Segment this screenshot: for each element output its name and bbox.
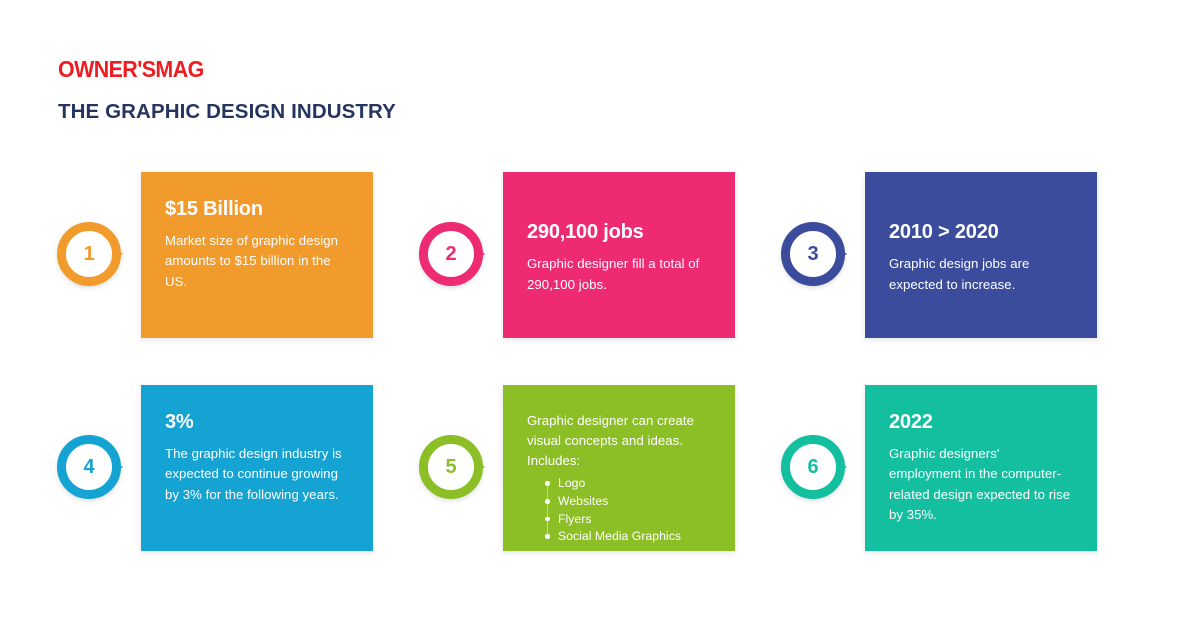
stat-cell-5: 5Graphic designer can create visual conc… bbox=[408, 373, 803, 563]
card-body-text: The graphic design industry is expected … bbox=[165, 444, 351, 505]
list-item: Websites bbox=[545, 493, 713, 511]
badge-number: 4 bbox=[57, 435, 121, 499]
step-badge-6[interactable]: 6 bbox=[781, 435, 845, 499]
stat-card-1[interactable]: $15 BillionMarket size of graphic design… bbox=[141, 172, 373, 338]
card-headline: 3% bbox=[165, 411, 351, 433]
stat-cell-1: 1$15 BillionMarket size of graphic desig… bbox=[46, 160, 441, 350]
card-body-text: Market size of graphic design amounts to… bbox=[165, 231, 351, 292]
stat-cell-6: 62022Graphic designers' employment in th… bbox=[770, 373, 1165, 563]
stat-card-6[interactable]: 2022Graphic designers' employment in the… bbox=[865, 385, 1097, 551]
list-item: Logo bbox=[545, 475, 713, 493]
badge-number: 6 bbox=[781, 435, 845, 499]
card-intro-text: Graphic designer can create visual conce… bbox=[527, 411, 713, 470]
badge-number: 3 bbox=[781, 222, 845, 286]
card-headline: 2010 > 2020 bbox=[889, 221, 1075, 243]
stat-cell-4: 43%The graphic design industry is expect… bbox=[46, 373, 441, 563]
infographic-page: OWNER'SMAG THE GRAPHIC DESIGN INDUSTRY 1… bbox=[0, 0, 1200, 628]
stat-card-3[interactable]: 2010 > 2020Graphic design jobs are expec… bbox=[865, 172, 1097, 338]
step-badge-1[interactable]: 1 bbox=[57, 222, 121, 286]
stats-grid: 1$15 BillionMarket size of graphic desig… bbox=[0, 0, 1200, 628]
stat-cell-2: 2290,100 jobsGraphic designer fill a tot… bbox=[408, 160, 803, 350]
card-body-text: Graphic design jobs are expected to incr… bbox=[889, 254, 1075, 295]
card-body-text: Graphic designers' employment in the com… bbox=[889, 444, 1075, 526]
stat-card-5[interactable]: Graphic designer can create visual conce… bbox=[503, 385, 735, 551]
step-badge-4[interactable]: 4 bbox=[57, 435, 121, 499]
stat-cell-3: 32010 > 2020Graphic design jobs are expe… bbox=[770, 160, 1165, 350]
card-headline: $15 Billion bbox=[165, 198, 351, 220]
card-headline: 2022 bbox=[889, 411, 1075, 433]
card-headline: 290,100 jobs bbox=[527, 221, 713, 243]
badge-number: 1 bbox=[57, 222, 121, 286]
card-body-text: Graphic designer fill a total of 290,100… bbox=[527, 254, 713, 295]
card-bullet-list: LogoWebsitesFlyersSocial Media Graphics bbox=[545, 475, 713, 546]
step-badge-2[interactable]: 2 bbox=[419, 222, 483, 286]
step-badge-5[interactable]: 5 bbox=[419, 435, 483, 499]
stat-card-4[interactable]: 3%The graphic design industry is expecte… bbox=[141, 385, 373, 551]
badge-number: 2 bbox=[419, 222, 483, 286]
badge-number: 5 bbox=[419, 435, 483, 499]
list-item: Flyers bbox=[545, 511, 713, 529]
list-item: Social Media Graphics bbox=[545, 528, 713, 546]
step-badge-3[interactable]: 3 bbox=[781, 222, 845, 286]
stat-card-2[interactable]: 290,100 jobsGraphic designer fill a tota… bbox=[503, 172, 735, 338]
